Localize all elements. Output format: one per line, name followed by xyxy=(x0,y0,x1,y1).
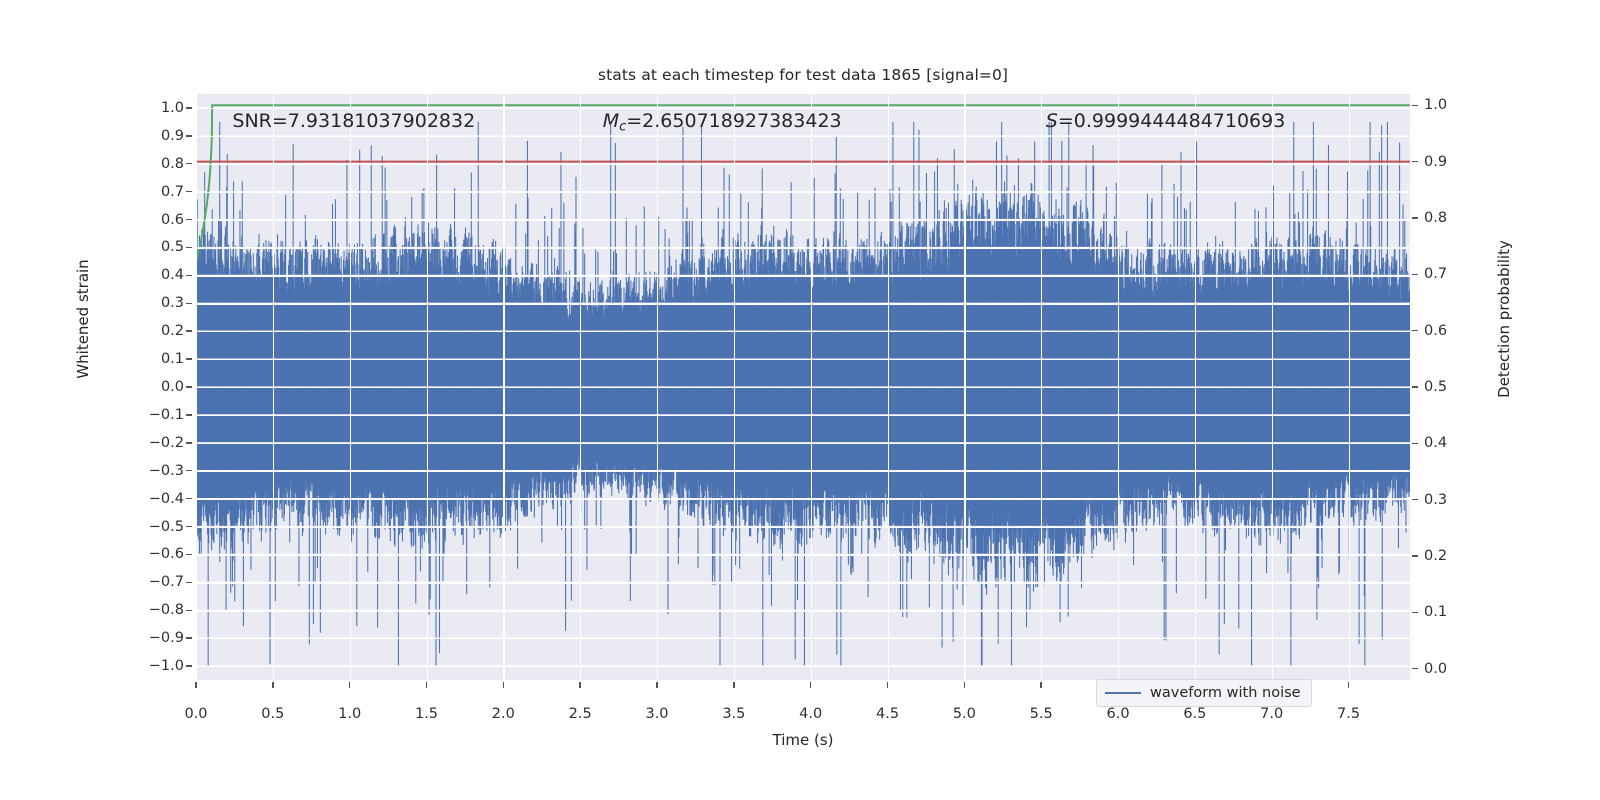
x-tick-label: 0.0 xyxy=(184,706,207,722)
gridline-horizontal xyxy=(196,443,1410,444)
y-axis-label-right: Detection probability xyxy=(1495,219,1513,419)
y-tick-label-left: −0.3 xyxy=(120,463,184,479)
tick-mark-bottom xyxy=(964,682,965,688)
tick-mark-left xyxy=(186,442,192,443)
tick-mark-right xyxy=(1412,217,1418,218)
y-tick-label-right: 0.0 xyxy=(1424,661,1447,677)
y-tick-label-left: 0.1 xyxy=(120,351,184,367)
y-tick-label-left: 0.9 xyxy=(120,128,184,144)
y-tick-label-left: 0.8 xyxy=(120,156,184,172)
gridline-horizontal xyxy=(196,499,1410,500)
gridline-horizontal xyxy=(196,582,1410,583)
tick-mark-bottom xyxy=(733,682,734,688)
y-axis-ticks-left: 1.00.90.80.70.60.50.40.30.20.10.0−0.1−0.… xyxy=(120,94,184,680)
tick-mark-left xyxy=(186,275,192,276)
y-tick-label-left: −0.6 xyxy=(120,546,184,562)
tick-mark-right xyxy=(1412,330,1418,331)
gridline-vertical xyxy=(1195,94,1196,680)
y-tick-label-right: 0.5 xyxy=(1424,379,1447,395)
tick-mark-bottom xyxy=(1348,682,1349,688)
y-tick-label-right: 0.6 xyxy=(1424,323,1447,339)
tick-mark-bottom xyxy=(195,682,196,688)
tick-mark-left xyxy=(186,358,192,359)
gridline-horizontal xyxy=(196,415,1410,416)
x-tick-label: 3.0 xyxy=(645,706,668,722)
gridline-horizontal xyxy=(196,527,1410,528)
figure: stats at each timestep for test data 186… xyxy=(0,0,1600,800)
tick-mark-left xyxy=(186,470,192,471)
x-tick-label: 3.5 xyxy=(722,706,745,722)
gridline-vertical xyxy=(964,94,965,680)
gridline-vertical xyxy=(580,94,581,680)
tick-mark-left xyxy=(186,191,192,192)
x-tick-label: 2.0 xyxy=(492,706,515,722)
gridline-vertical xyxy=(734,94,735,680)
tick-mark-bottom xyxy=(579,682,580,688)
x-tick-label: 7.0 xyxy=(1260,706,1283,722)
gridline-horizontal xyxy=(196,610,1410,611)
tick-mark-bottom xyxy=(1040,682,1041,688)
y-tick-label-right: 0.1 xyxy=(1424,604,1447,620)
x-tick-label: 0.5 xyxy=(261,706,284,722)
legend-label-waveform: waveform with noise xyxy=(1150,685,1301,701)
tick-mark-bottom xyxy=(887,682,888,688)
gridline-horizontal xyxy=(196,554,1410,555)
tick-mark-right xyxy=(1412,668,1418,669)
y-tick-label-right: 0.7 xyxy=(1424,266,1447,282)
tick-mark-left xyxy=(186,247,192,248)
tick-mark-bottom xyxy=(272,682,273,688)
legend[interactable]: waveform with noise xyxy=(1096,679,1312,707)
x-tick-label: 1.0 xyxy=(338,706,361,722)
y-axis-label-left: Whitened strain xyxy=(74,229,92,409)
annotation-snrm: S=0.9999444484710693 xyxy=(1046,110,1286,132)
tick-mark-right xyxy=(1412,555,1418,556)
tick-mark-left xyxy=(186,107,192,108)
y-tick-label-left: 0.5 xyxy=(120,239,184,255)
y-tick-label-left: 0.2 xyxy=(120,323,184,339)
tick-mark-bottom xyxy=(503,682,504,688)
y-tick-label-right: 0.4 xyxy=(1424,435,1447,451)
x-tick-label: 7.5 xyxy=(1337,706,1360,722)
gridline-horizontal xyxy=(196,303,1410,304)
gridline-horizontal xyxy=(196,638,1410,639)
tick-mark-left xyxy=(186,526,192,527)
gridline-horizontal xyxy=(196,192,1410,193)
waveform-samples xyxy=(196,122,1410,666)
x-axis-ticks: 0.00.51.01.52.02.53.03.54.04.55.05.56.06… xyxy=(196,706,1410,728)
y-tick-label-right: 1.0 xyxy=(1424,97,1447,113)
y-tick-label-left: −0.7 xyxy=(120,574,184,590)
annotation-mc: Mc=2.650718927383423 xyxy=(603,110,842,135)
tick-mark-right xyxy=(1412,105,1418,106)
gridline-vertical xyxy=(350,94,351,680)
gridline-vertical xyxy=(657,94,658,680)
tick-mark-right xyxy=(1412,161,1418,162)
x-tick-label: 2.5 xyxy=(569,706,592,722)
y-tick-label-left: −0.9 xyxy=(120,630,184,646)
y-tick-label-left: −0.2 xyxy=(120,435,184,451)
y-axis-ticks-right: 1.00.90.80.70.60.50.40.30.20.10.0 xyxy=(1424,94,1484,680)
gridline-vertical xyxy=(888,94,889,680)
y-tick-label-left: 1.0 xyxy=(120,100,184,116)
gridline-vertical xyxy=(196,94,197,680)
x-tick-label: 5.5 xyxy=(1030,706,1053,722)
y-tick-label-left: 0.3 xyxy=(120,295,184,311)
y-tick-label-left: −0.1 xyxy=(120,407,184,423)
x-tick-label: 6.5 xyxy=(1183,706,1206,722)
tick-mark-bottom xyxy=(349,682,350,688)
tick-mark-bottom xyxy=(810,682,811,688)
gridline-horizontal xyxy=(196,359,1410,360)
y-tick-label-left: 0.4 xyxy=(120,267,184,283)
chart-title: stats at each timestep for test data 186… xyxy=(196,66,1410,84)
tick-mark-left xyxy=(186,554,192,555)
x-tick-label: 1.5 xyxy=(415,706,438,722)
gridline-vertical xyxy=(1041,94,1042,680)
gridline-vertical xyxy=(273,94,274,680)
tick-mark-left xyxy=(186,163,192,164)
tick-mark-left xyxy=(186,386,192,387)
gridline-horizontal xyxy=(196,471,1410,472)
x-tick-label: 4.5 xyxy=(876,706,899,722)
gridline-horizontal xyxy=(196,666,1410,667)
gridline-vertical xyxy=(427,94,428,680)
tick-mark-bottom xyxy=(426,682,427,688)
y-tick-label-left: −0.8 xyxy=(120,602,184,618)
y-tick-label-right: 0.2 xyxy=(1424,548,1447,564)
gridline-horizontal xyxy=(196,247,1410,248)
tick-mark-left xyxy=(186,135,192,136)
gridline-vertical xyxy=(1118,94,1119,680)
gridline-horizontal xyxy=(196,220,1410,221)
tick-mark-left xyxy=(186,414,192,415)
tick-mark-right xyxy=(1412,443,1418,444)
gridline-horizontal xyxy=(196,164,1410,165)
gridline-horizontal xyxy=(196,331,1410,332)
tick-mark-right xyxy=(1412,499,1418,500)
y-tick-label-left: 0.0 xyxy=(120,379,184,395)
y-tick-label-left: −0.4 xyxy=(120,491,184,507)
y-tick-label-right: 0.3 xyxy=(1424,492,1447,508)
x-axis-label: Time (s) xyxy=(196,731,1410,749)
tick-mark-left xyxy=(186,582,192,583)
tick-mark-right xyxy=(1412,386,1418,387)
tick-mark-right xyxy=(1412,612,1418,613)
plot-area: SNR=7.93181037902832Mc=2.650718927383423… xyxy=(196,94,1410,680)
x-tick-label: 6.0 xyxy=(1106,706,1129,722)
tick-mark-left xyxy=(186,303,192,304)
legend-swatch-waveform xyxy=(1105,692,1141,695)
tick-mark-left xyxy=(186,330,192,331)
tick-mark-left xyxy=(186,498,192,499)
tick-mark-left xyxy=(186,665,192,666)
x-tick-label: 4.0 xyxy=(799,706,822,722)
gridline-vertical xyxy=(811,94,812,680)
gridline-vertical xyxy=(1349,94,1350,680)
tick-mark-left xyxy=(186,637,192,638)
gridline-vertical xyxy=(503,94,504,680)
y-tick-label-left: 0.6 xyxy=(120,212,184,228)
gridline-horizontal xyxy=(196,275,1410,276)
y-tick-label-left: 0.7 xyxy=(120,184,184,200)
tick-mark-left xyxy=(186,219,192,220)
tick-mark-right xyxy=(1412,274,1418,275)
annotation-snr: SNR=7.93181037902832 xyxy=(232,110,475,132)
gridline-horizontal xyxy=(196,108,1410,109)
gridline-horizontal xyxy=(196,136,1410,137)
y-tick-label-left: −0.5 xyxy=(120,519,184,535)
tick-mark-left xyxy=(186,610,192,611)
gridline-vertical xyxy=(1272,94,1273,680)
gridline-horizontal xyxy=(196,387,1410,388)
tick-mark-bottom xyxy=(656,682,657,688)
y-tick-label-right: 0.9 xyxy=(1424,154,1447,170)
y-tick-label-left: −1.0 xyxy=(120,658,184,674)
x-tick-label: 5.0 xyxy=(953,706,976,722)
y-tick-label-right: 0.8 xyxy=(1424,210,1447,226)
